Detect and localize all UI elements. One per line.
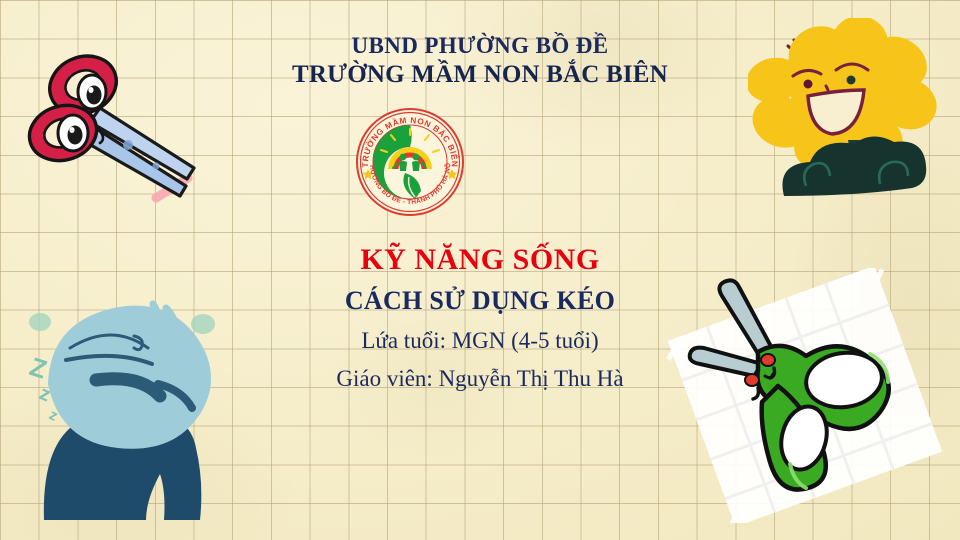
green-scissors-illustration (658, 268, 953, 523)
header-line-2: TRƯỜNG MẦM NON BẮC BIÊN (0, 60, 960, 90)
sleeping-character-illustration: Z z z (8, 288, 233, 523)
header-block: UBND PHƯỜNG BỒ ĐỀ TRƯỜNG MẦM NON BẮC BIÊ… (0, 32, 960, 90)
svg-text:Z: Z (26, 351, 50, 384)
header-line-1: UBND PHƯỜNG BỒ ĐỀ (0, 32, 960, 60)
sleeper-head (48, 304, 211, 449)
slide-canvas: UBND PHƯỜNG BỒ ĐỀ TRƯỜNG MẦM NON BẮC BIÊ… (0, 0, 960, 540)
red-scissors-blades (82, 108, 194, 196)
school-logo: TRƯỜNG MẦM NON BẮC BIÊN PHƯỜNG BỒ ĐỀ - T… (355, 107, 465, 217)
